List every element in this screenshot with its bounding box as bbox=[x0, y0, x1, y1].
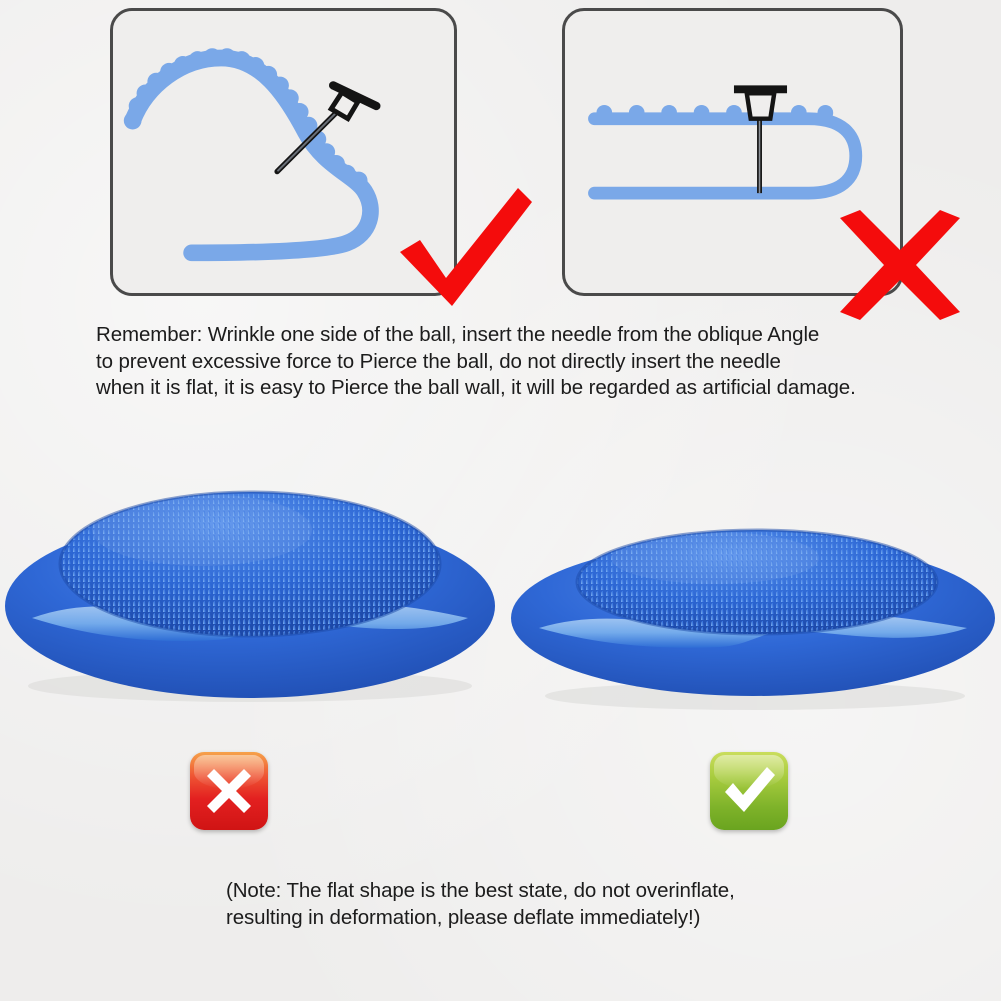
check-mark-icon bbox=[396, 182, 536, 310]
overinflated-balance-disc bbox=[2, 468, 498, 708]
needle-icon bbox=[734, 89, 787, 193]
instruction-infographic: Remember: Wrinkle one side of the ball, … bbox=[0, 0, 1001, 1001]
instruction-paragraph: Remember: Wrinkle one side of the ball, … bbox=[96, 322, 936, 402]
check-mark-icon bbox=[710, 752, 788, 830]
cross-mark-icon bbox=[836, 210, 964, 320]
note-paragraph: (Note: The flat shape is the best state,… bbox=[226, 877, 846, 931]
balance-disc-image bbox=[505, 500, 1001, 712]
balance-disc-image bbox=[2, 468, 498, 708]
badge-good bbox=[710, 752, 788, 830]
ball-wall-path bbox=[594, 119, 855, 193]
correctly-inflated-balance-disc bbox=[505, 500, 1001, 712]
badge-bad bbox=[190, 752, 268, 830]
cross-mark-icon bbox=[190, 752, 268, 830]
